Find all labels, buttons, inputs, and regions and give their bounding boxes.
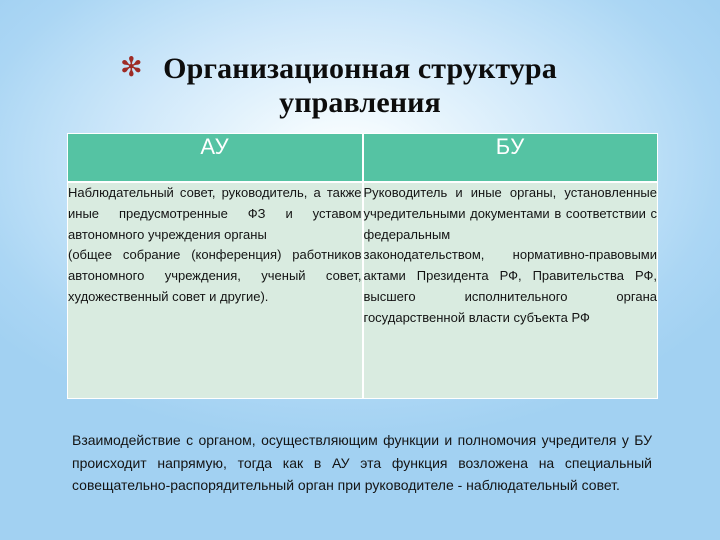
slide-canvas: ✻ Организационная структура управления А… <box>0 0 720 540</box>
table-row: Наблюдательный совет, руководитель, а та… <box>67 182 658 399</box>
page-title: Организационная структура управления <box>96 52 624 120</box>
column-header-au: АУ <box>67 133 363 182</box>
cell-au-bodies: Наблюдательный совет, руководитель, а та… <box>67 182 363 399</box>
cell-bu-text: Руководитель и иные органы, установленны… <box>364 183 658 329</box>
cell-au-text: Наблюдательный совет, руководитель, а та… <box>68 183 362 308</box>
cell-bu-bodies: Руководитель и иные органы, установленны… <box>363 182 659 399</box>
comparison-table: АУ БУ Наблюдательный совет, руководитель… <box>67 133 658 399</box>
table-header: АУ БУ <box>67 133 658 182</box>
slide-title-block: ✻ Организационная структура управления <box>96 52 624 120</box>
column-header-bu: БУ <box>363 133 659 182</box>
table-header-row: АУ БУ <box>67 133 658 182</box>
footer-note: Взаимодействие с органом, осуществляющим… <box>72 429 652 497</box>
table-body: Наблюдательный совет, руководитель, а та… <box>67 182 658 399</box>
asterisk-bullet-icon: ✻ <box>120 54 143 81</box>
